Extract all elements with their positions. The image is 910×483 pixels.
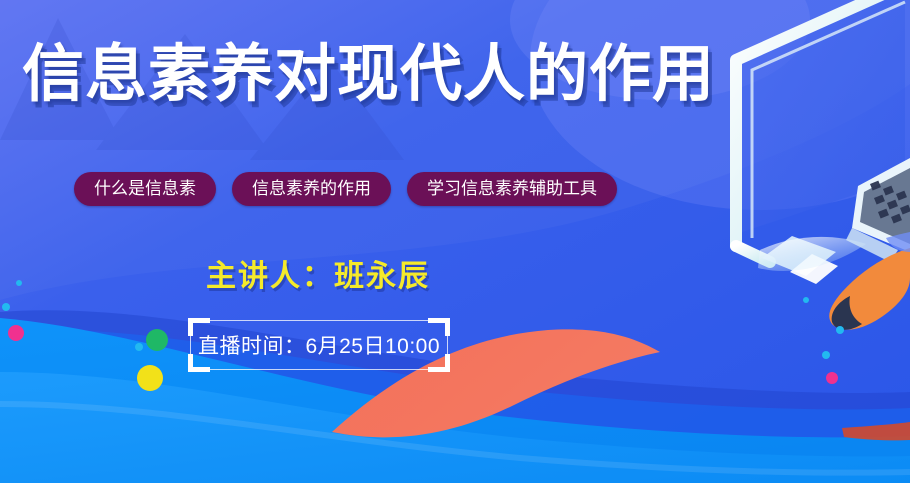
topic-pill-2[interactable]: 信息素养的作用	[232, 172, 391, 206]
live-time-label: 直播时间：6月25日10:00	[190, 320, 448, 370]
topic-pill-3[interactable]: 学习信息素养辅助工具	[407, 172, 617, 206]
topic-pill-1[interactable]: 什么是信息素	[74, 172, 216, 206]
speaker-label: 主讲人：班永辰	[206, 251, 430, 295]
page-title: 信息素养对现代人的作用	[22, 44, 715, 106]
live-time-frame: 直播时间：6月25日10:00	[190, 320, 448, 370]
topic-pill-row: 什么是信息素 信息素养的作用 学习信息素养辅助工具	[74, 172, 617, 206]
webinar-banner: 信息素养对现代人的作用 什么是信息素 信息素养的作用 学习信息素养辅助工具 主讲…	[0, 0, 910, 483]
